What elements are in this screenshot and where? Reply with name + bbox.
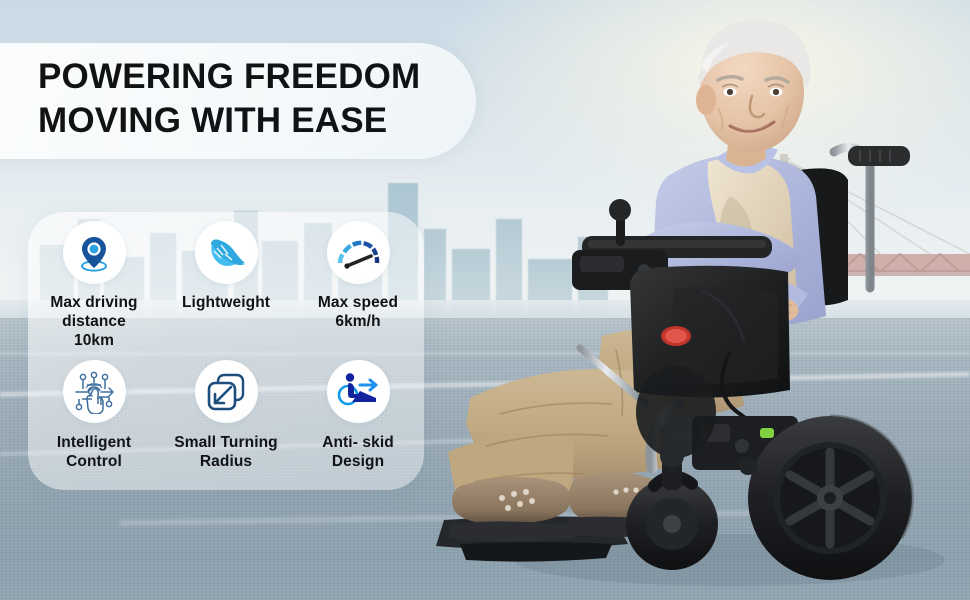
feature-icon-circle — [327, 221, 390, 284]
speedometer-icon — [336, 233, 380, 273]
wheelchair-ramp-icon — [336, 372, 380, 412]
feature-label: Anti- skid Design — [322, 433, 394, 471]
elderly-man-in-wheelchair — [430, 0, 970, 600]
feature-lightweight[interactable]: Lightweight — [160, 212, 292, 351]
feature-label: Lightweight — [182, 293, 270, 312]
feature-intelligent-control[interactable]: Intelligent Control — [28, 351, 160, 490]
feature-label: Max driving distance 10km — [50, 293, 137, 350]
feature-label: Max speed 6km/h — [318, 293, 398, 331]
feature-anti-skid-design[interactable]: Anti- skid Design — [292, 351, 424, 490]
feature-icon-circle — [195, 360, 258, 423]
headline-line-1: POWERING FREEDOM — [38, 55, 508, 99]
feature-max-driving-distance[interactable]: Max driving distance 10km — [28, 212, 160, 351]
feather-icon — [205, 232, 247, 274]
feature-icon-circle — [63, 360, 126, 423]
feature-icon-circle — [63, 221, 126, 284]
feature-max-speed[interactable]: Max speed 6km/h — [292, 212, 424, 351]
headline: POWERING FREEDOM MOVING WITH EASE — [38, 55, 508, 143]
resize-arrow-squares-icon — [205, 371, 247, 413]
smart-touch-control-icon — [72, 370, 116, 414]
feature-small-turning-radius[interactable]: Small Turning Radius — [160, 351, 292, 490]
feature-icon-circle — [327, 360, 390, 423]
location-pin-icon — [74, 233, 114, 273]
feature-label: Intelligent Control — [57, 433, 131, 471]
feature-grid: Max driving distance 10km Lightweight — [28, 212, 424, 490]
feature-icon-circle — [195, 221, 258, 284]
headline-line-2: MOVING WITH EASE — [38, 99, 508, 143]
product-banner: POWERING FREEDOM MOVING WITH EASE Max dr… — [0, 0, 970, 600]
feature-label: Small Turning Radius — [174, 433, 278, 471]
